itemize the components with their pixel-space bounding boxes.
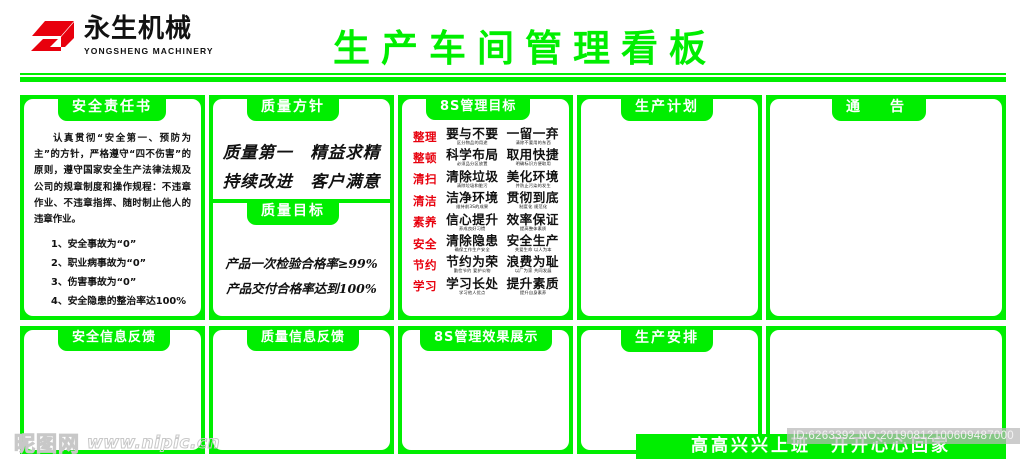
panel-tab-8s-goals: 8S管理目标 (426, 95, 530, 120)
eight-s-cell: 节约为荣勤俭节约 爱护公物 (442, 255, 503, 274)
eight-s-cell: 贯彻到底制度化 规范化 (503, 191, 564, 210)
eight-s-row: 节约节约为荣勤俭节约 爱护公物浪费为耻以厂为家 共同发展 (408, 255, 563, 274)
eight-s-cell: 安全生产关爱生命 以人为本 (503, 234, 564, 253)
panel-tab-quality-policy: 质量方针 (247, 95, 339, 121)
eight-s-cell: 洁净环境维持前3S的成果 (442, 191, 503, 210)
eight-s-row: 清洁洁净环境维持前3S的成果贯彻到底制度化 规范化 (408, 191, 563, 210)
eight-s-cell-title: 贯彻到底 (503, 191, 564, 205)
eight-s-row-columns: 清除垃圾清除垃圾和脏污美化环境并防止污染的发生 (442, 170, 563, 189)
panel-tab-safety-feedback: 安全信息反馈 (58, 326, 170, 351)
eight-s-row: 素养信心提升养成良好习惯效率保证提高整体素质 (408, 213, 563, 232)
eight-s-cell-subtitle: 养成良好习惯 (443, 227, 501, 232)
safety-responsibility-item-list: 1、安全事故为“0” 2、职业病事故为“0” 3、伤害事故为“0” 4、安全隐患… (34, 235, 191, 311)
eight-s-row-key: 安全 (408, 236, 442, 252)
eight-s-cell: 信心提升养成良好习惯 (442, 213, 503, 232)
page-header: 永生机械 YONGSHENG MACHINERY 生产车间管理看板 (0, 0, 1024, 70)
panel-tab-safety-responsibility: 安全责任书 (58, 95, 166, 121)
panel-production-plan: 生产计划 (577, 95, 762, 320)
eight-s-row-key: 素养 (408, 214, 442, 230)
panel-body: 生产计划 (581, 99, 758, 316)
panel-body: 生产安排 (581, 330, 758, 450)
eight-s-cell-title: 美化环境 (503, 170, 564, 184)
quality-goal-lines: 产品一次检验合格率≥99% 产品交付合格率达到100% (213, 251, 390, 301)
eight-s-cell: 一留一弃清除不要用的东西 (503, 127, 564, 146)
eight-s-row-key: 整顿 (408, 150, 442, 166)
quality-goal-line: 产品交付合格率达到100% (213, 276, 390, 301)
eight-s-cell: 取用快捷明确标识方便取用 (503, 148, 564, 167)
list-item: 3、伤害事故为“0” (34, 273, 191, 292)
eight-s-row-key: 清洁 (408, 193, 442, 209)
quality-policy-lines: 质量第一 精益求精 持续改进 客户满意 (213, 139, 390, 197)
eight-s-cell-title: 取用快捷 (503, 148, 564, 162)
company-logo: 永生机械 YONGSHENG MACHINERY (30, 16, 214, 56)
eight-s-cell-subtitle: 提升自身素养 (504, 291, 562, 296)
eight-s-cell-subtitle: 确保工作生产安全 (443, 248, 501, 253)
eight-s-cell: 提升素质提升自身素养 (503, 277, 564, 296)
panel-body: 安全责任书 认真贯彻“安全第一、预防为主”的方针，严格遵守“四不伤害”的原则，遵… (24, 99, 201, 316)
panel-body: 质量方针 质量第一 精益求精 持续改进 客户满意 质量目标 产品一次检验合格率≥… (213, 99, 390, 316)
panel-quality: 质量方针 质量第一 精益求精 持续改进 客户满意 质量目标 产品一次检验合格率≥… (209, 95, 394, 320)
eight-s-cell-subtitle: 勤俭节约 爱护公物 (443, 269, 501, 274)
eight-s-cell-title: 浪费为耻 (503, 255, 564, 269)
quality-policy-line: 持续改进 客户满意 (213, 168, 390, 197)
eight-s-cell-subtitle: 制度化 规范化 (504, 205, 562, 210)
eight-s-cell: 美化环境并防止污染的发生 (503, 170, 564, 189)
panel-body: 8S管理目标 整理要与不要区分物品的用途一留一弃清除不要用的东西整顿科学布局必须… (402, 99, 569, 316)
panel-tab-8s-results: 8S管理效果展示 (420, 326, 552, 351)
eight-s-cell-title: 节约为荣 (442, 255, 503, 269)
panel-body: 8S管理效果展示 (402, 330, 569, 450)
eight-s-cell-title: 清除隐患 (442, 234, 503, 248)
eight-s-cell-title: 一留一弃 (503, 127, 564, 141)
panel-body: 安全信息反馈 (24, 330, 201, 450)
eight-s-cell-subtitle: 区分物品的用途 (443, 141, 501, 146)
eight-s-row-columns: 科学布局必须品分区放置取用快捷明确标识方便取用 (442, 148, 563, 167)
panel-body: 通 告 (770, 99, 1002, 316)
eight-s-cell-title: 要与不要 (442, 127, 503, 141)
eight-s-cell-title: 清除垃圾 (442, 170, 503, 184)
eight-s-cell-subtitle: 以厂为家 共同发展 (504, 269, 562, 274)
eight-s-cell-title: 科学布局 (442, 148, 503, 162)
eight-s-cell-subtitle: 清除不要用的东西 (504, 141, 562, 146)
eight-s-cell-title: 安全生产 (503, 234, 564, 248)
eight-s-cell-title: 效率保证 (503, 213, 564, 227)
list-item: 1、安全事故为“0” (34, 235, 191, 254)
header-divider-thin (20, 73, 1006, 75)
eight-s-cell: 要与不要区分物品的用途 (442, 127, 503, 146)
panel-quality-feedback: 质量信息反馈 (209, 326, 394, 454)
eight-s-cell-subtitle: 学习他人优点 (443, 291, 501, 296)
logo-text-group: 永生机械 YONGSHENG MACHINERY (84, 16, 214, 55)
panel-tab-quality-feedback: 质量信息反馈 (247, 326, 359, 351)
logo-english-name: YONGSHENG MACHINERY (84, 46, 214, 56)
eight-s-row-columns: 清除隐患确保工作生产安全安全生产关爱生命 以人为本 (442, 234, 563, 253)
eight-s-cell-subtitle: 清除垃圾和脏污 (443, 184, 501, 189)
eight-s-row: 学习学习长处学习他人优点提升素质提升自身素养 (408, 277, 563, 296)
panel-safety-feedback: 安全信息反馈 (20, 326, 205, 454)
list-item: 4、安全隐患的整治率达100% (34, 292, 191, 311)
eight-s-cell-title: 洁净环境 (442, 191, 503, 205)
eight-s-cell: 效率保证提高整体素质 (503, 213, 564, 232)
eight-s-cell: 清除垃圾清除垃圾和脏污 (442, 170, 503, 189)
panel-body: 质量信息反馈 (213, 330, 390, 450)
eight-s-row: 清扫清除垃圾清除垃圾和脏污美化环境并防止污染的发生 (408, 170, 563, 189)
eight-s-row-columns: 学习长处学习他人优点提升素质提升自身素养 (442, 277, 563, 296)
eight-s-cell: 清除隐患确保工作生产安全 (442, 234, 503, 253)
panel-tab-production-plan: 生产计划 (621, 95, 713, 121)
eight-s-cell-subtitle: 维持前3S的成果 (443, 205, 501, 210)
eight-s-cell-title: 提升素质 (503, 277, 564, 291)
panel-8s-goals: 8S管理目标 整理要与不要区分物品的用途一留一弃清除不要用的东西整顿科学布局必须… (398, 95, 573, 320)
panel-safety-responsibility: 安全责任书 认真贯彻“安全第一、预防为主”的方针，严格遵守“四不伤害”的原则，遵… (20, 95, 205, 320)
panel-notice: 通 告 (766, 95, 1006, 320)
eight-s-row-list: 整理要与不要区分物品的用途一留一弃清除不要用的东西整顿科学布局必须品分区放置取用… (408, 127, 563, 298)
eight-s-row: 整顿科学布局必须品分区放置取用快捷明确标识方便取用 (408, 148, 563, 167)
panel-tab-notice: 通 告 (832, 95, 926, 121)
eight-s-row-columns: 信心提升养成良好习惯效率保证提高整体素质 (442, 213, 563, 232)
quality-policy-line: 质量第一 精益求精 (213, 139, 390, 168)
eight-s-row-key: 学习 (408, 278, 442, 294)
page-title: 生产车间管理看板 (275, 18, 775, 72)
eight-s-cell: 科学布局必须品分区放置 (442, 148, 503, 167)
eight-s-cell-title: 学习长处 (442, 277, 503, 291)
eight-s-cell-title: 信心提升 (442, 213, 503, 227)
eight-s-cell-subtitle: 明确标识方便取用 (504, 163, 562, 168)
panel-tab-production-schedule: 生产安排 (621, 326, 713, 352)
watermark-id-text: ID:6263392 NO:20190812100609487000 (787, 428, 1020, 444)
panel-8s-results: 8S管理效果展示 (398, 326, 573, 454)
eight-s-cell-subtitle: 必须品分区放置 (443, 163, 501, 168)
eight-s-row-columns: 要与不要区分物品的用途一留一弃清除不要用的东西 (442, 127, 563, 146)
eight-s-row: 整理要与不要区分物品的用途一留一弃清除不要用的东西 (408, 127, 563, 146)
eight-s-row-columns: 节约为荣勤俭节约 爱护公物浪费为耻以厂为家 共同发展 (442, 255, 563, 274)
quality-goal-line: 产品一次检验合格率≥99% (213, 251, 390, 276)
eight-s-cell-subtitle: 并防止污染的发生 (504, 184, 562, 189)
eight-s-cell: 学习长处学习他人优点 (442, 277, 503, 296)
eight-s-row: 安全清除隐患确保工作生产安全安全生产关爱生命 以人为本 (408, 234, 563, 253)
logo-chinese-name: 永生机械 (84, 16, 214, 43)
eight-s-row-columns: 洁净环境维持前3S的成果贯彻到底制度化 规范化 (442, 191, 563, 210)
eight-s-cell: 浪费为耻以厂为家 共同发展 (503, 255, 564, 274)
eight-s-cell-subtitle: 提高整体素质 (504, 227, 562, 232)
header-divider-thick (20, 77, 1006, 82)
panel-tab-quality-goal: 质量目标 (247, 199, 339, 225)
safety-responsibility-paragraph: 认真贯彻“安全第一、预防为主”的方针，严格遵守“四不伤害”的原则，遵守国家安全生… (34, 131, 191, 228)
eight-s-row-key: 整理 (408, 129, 442, 145)
yongsheng-logo-icon (30, 16, 76, 56)
eight-s-row-key: 清扫 (408, 171, 442, 187)
list-item: 2、职业病事故为“0” (34, 254, 191, 273)
eight-s-cell-subtitle: 关爱生命 以人为本 (504, 248, 562, 253)
eight-s-row-key: 节约 (408, 257, 442, 273)
